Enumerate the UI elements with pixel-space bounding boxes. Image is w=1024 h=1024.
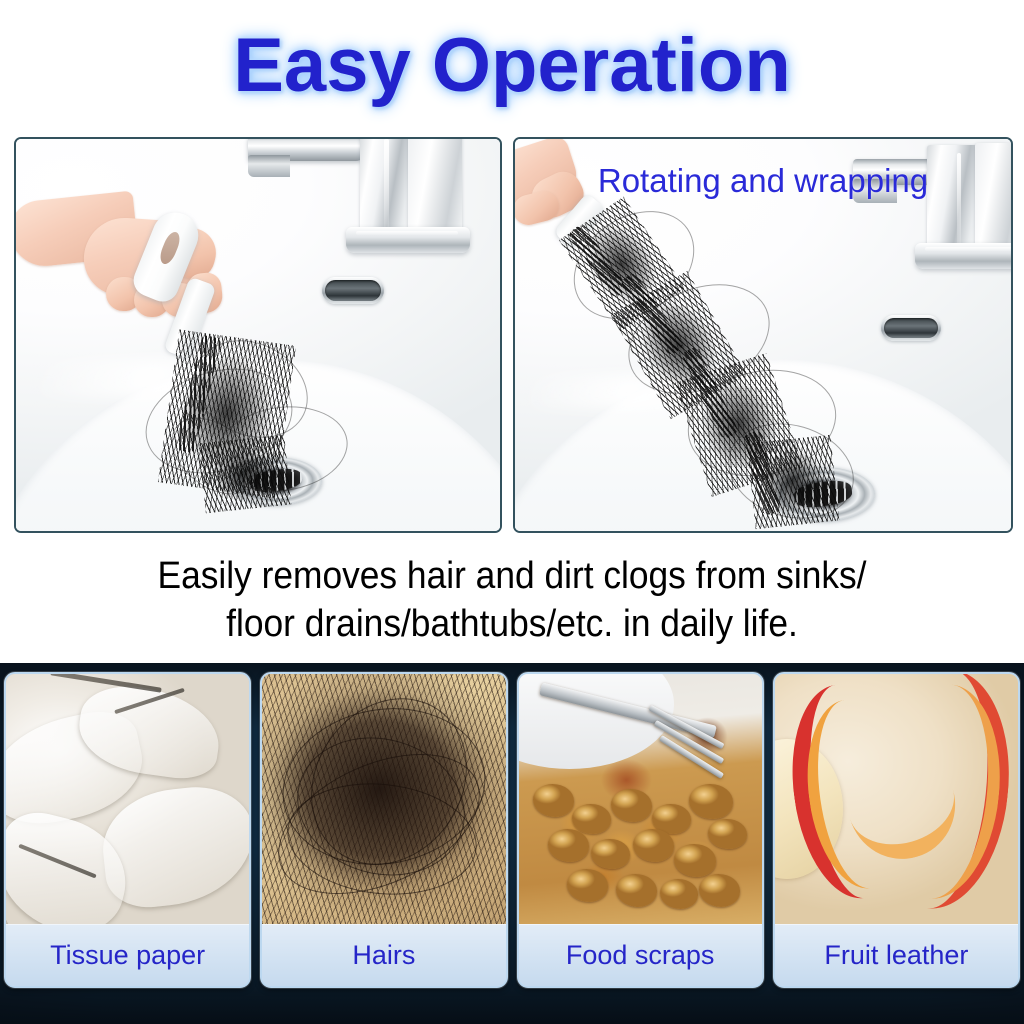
page-title: Easy Operation — [0, 18, 1024, 114]
photo-panel-right: Rotating and wrapping — [513, 137, 1013, 533]
photo-panel-left — [14, 137, 502, 533]
card-label-food-scraps: Food scraps — [519, 924, 762, 986]
overflow-slot-icon — [881, 315, 941, 341]
card-fruit-leather[interactable]: Fruit leather — [773, 672, 1020, 988]
rotating-wrapping-label: Rotating and wrapping — [515, 161, 1011, 201]
card-label-hairs: Hairs — [262, 924, 505, 986]
clog-type-card-list: Tissue paper Hairs — [0, 672, 1024, 988]
card-photo-food-scraps — [519, 674, 762, 924]
description-line-1: Easily removes hair and dirt clogs from … — [36, 552, 988, 600]
card-food-scraps[interactable]: Food scraps — [517, 672, 764, 988]
card-tissue-paper[interactable]: Tissue paper — [4, 672, 251, 988]
card-photo-fruit-leather — [775, 674, 1018, 924]
card-photo-hairs — [262, 674, 505, 924]
description-line-2: floor drains/bathtubs/etc. in daily life… — [36, 600, 988, 648]
card-label-fruit-leather: Fruit leather — [775, 924, 1018, 986]
hand-illustration — [14, 191, 240, 341]
overflow-slot-icon — [322, 277, 384, 304]
description-text: Easily removes hair and dirt clogs from … — [36, 552, 988, 648]
card-hairs[interactable]: Hairs — [260, 672, 507, 988]
card-photo-tissue-paper — [6, 674, 249, 924]
card-label-tissue-paper: Tissue paper — [6, 924, 249, 986]
